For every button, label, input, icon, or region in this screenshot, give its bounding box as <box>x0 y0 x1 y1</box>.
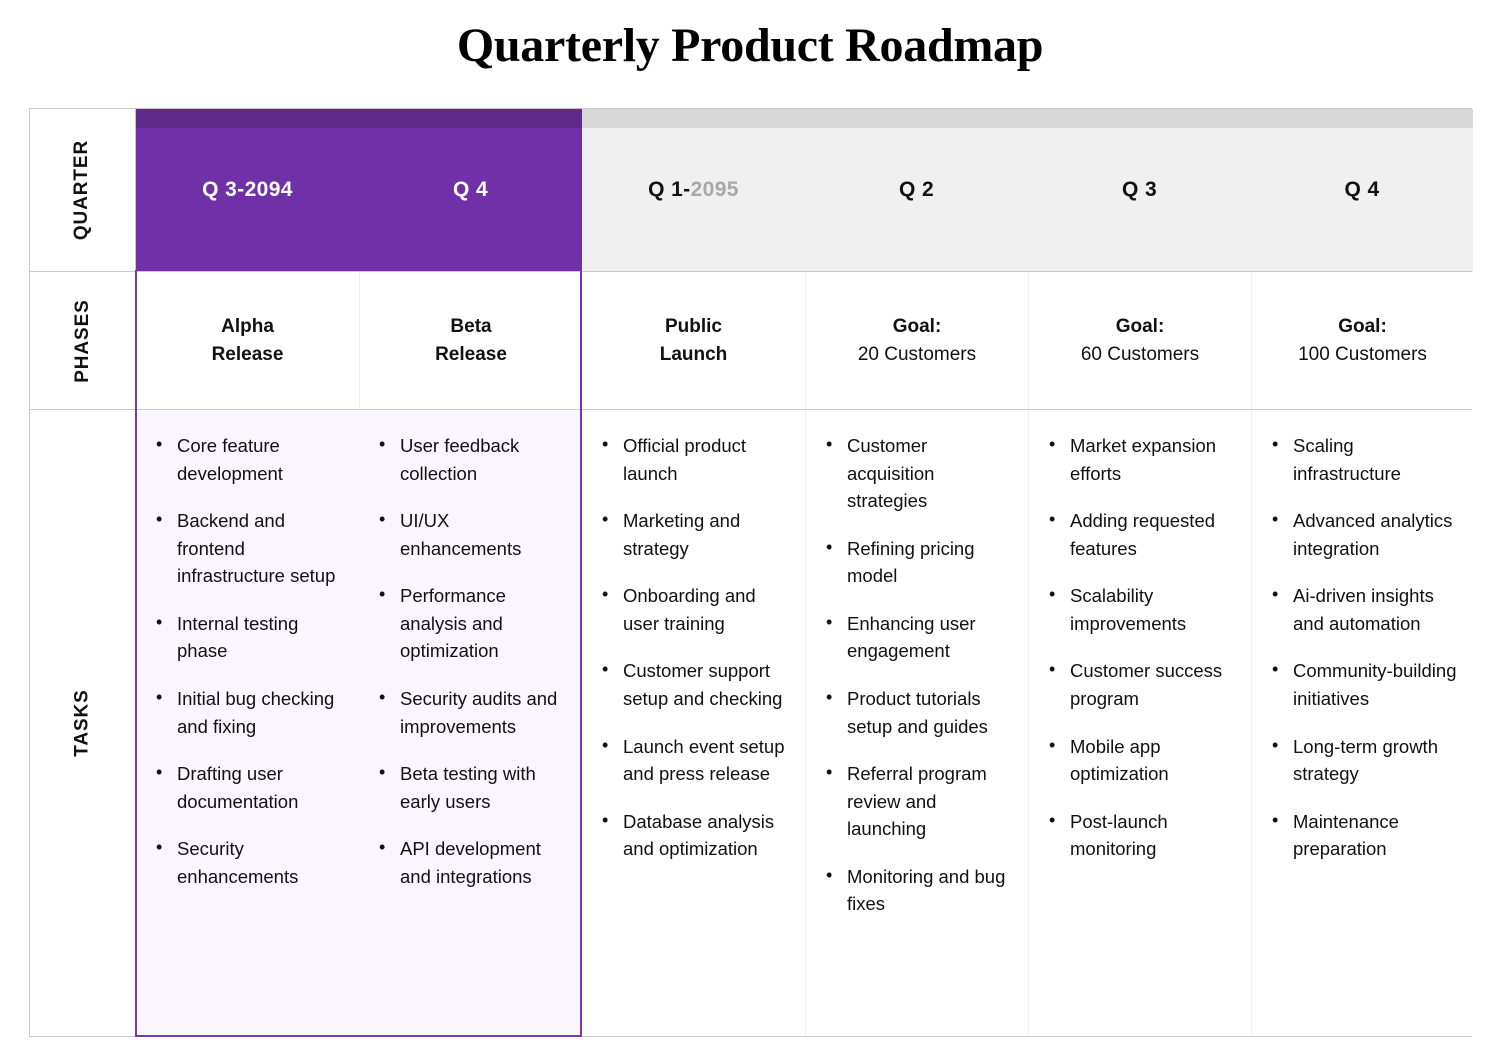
quarter-label-3: Q 1 <box>648 178 683 202</box>
tasks-row-body: Core feature development Backend and fro… <box>136 410 1473 1036</box>
phase-line1-6: Goal: <box>1338 313 1387 341</box>
row-label-phases: PHASES <box>30 272 136 409</box>
task-item[interactable]: Initial bug checking and fixing <box>154 685 343 740</box>
task-item[interactable]: Onboarding and user training <box>600 582 789 637</box>
phase-line2-2: Release <box>435 341 507 369</box>
task-item[interactable]: Adding requested features <box>1047 507 1235 562</box>
task-list-4: Customer acquisition strategies Refining… <box>824 432 1012 918</box>
phase-line1-4: Goal: <box>893 313 942 341</box>
page-title: Quarterly Product Roadmap <box>0 18 1500 73</box>
task-list-1: Core feature development Backend and fro… <box>154 432 343 890</box>
row-label-phases-text: PHASES <box>71 299 93 383</box>
quarter-sep-1: - <box>237 178 244 202</box>
task-list-3: Official product launch Marketing and st… <box>600 432 789 863</box>
task-item[interactable]: Community-building initiatives <box>1270 657 1457 712</box>
task-item[interactable]: Security audits and improvements <box>377 685 566 740</box>
task-item[interactable]: Enhancing user engagement <box>824 610 1012 665</box>
phase-line2-1: Release <box>212 341 284 369</box>
row-label-quarter-text: QUARTER <box>72 140 94 240</box>
phase-line1-3: Public <box>665 313 722 341</box>
task-list-5: Market expansion efforts Adding requeste… <box>1047 432 1235 863</box>
task-item[interactable]: Security enhancements <box>154 835 343 890</box>
task-item[interactable]: Customer success program <box>1047 657 1235 712</box>
phases-row: PHASES Alpha Release Beta Release Public… <box>30 271 1472 410</box>
task-item[interactable]: Customer support setup and checking <box>600 657 789 712</box>
quarter-label-1: Q 3 <box>202 178 237 202</box>
phase-line2-6: 100 Customers <box>1298 341 1427 369</box>
row-label-tasks: TASKS <box>30 410 136 1036</box>
task-item[interactable]: Ai-driven insights and automation <box>1270 582 1457 637</box>
phases-row-body: Alpha Release Beta Release Public Launch… <box>136 272 1473 409</box>
task-item[interactable]: Core feature development <box>154 432 343 487</box>
task-list-2: User feedback collection UI/UX enhanceme… <box>377 432 566 890</box>
quarter-cell-4[interactable]: Q 2 <box>805 109 1028 271</box>
task-item[interactable]: Referral program review and launching <box>824 760 1012 843</box>
quarter-cell-3[interactable]: Q 1 - 2095 <box>582 109 805 271</box>
quarter-year-1: 2094 <box>245 178 293 202</box>
task-item[interactable]: Refining pricing model <box>824 535 1012 590</box>
tasks-cell-3: Official product launch Marketing and st… <box>582 410 805 1036</box>
task-item[interactable]: API development and integrations <box>377 835 566 890</box>
roadmap-table: QUARTER Q 3 - 2094 Q 4 Q 1 - 2095 Q 2 <box>29 108 1472 1037</box>
task-item[interactable]: Long-term growth strategy <box>1270 733 1457 788</box>
quarter-label-4: Q 2 <box>899 178 934 202</box>
task-item[interactable]: Marketing and strategy <box>600 507 789 562</box>
phase-cell-5[interactable]: Goal: 60 Customers <box>1028 272 1251 409</box>
phase-line2-3: Launch <box>660 341 728 369</box>
task-item[interactable]: Advanced analytics integration <box>1270 507 1457 562</box>
quarter-year-3: 2095 <box>691 178 739 202</box>
task-item[interactable]: Drafting user documentation <box>154 760 343 815</box>
task-item[interactable]: Post-launch monitoring <box>1047 808 1235 863</box>
task-item[interactable]: Performance analysis and optimization <box>377 582 566 665</box>
phase-line1-5: Goal: <box>1116 313 1165 341</box>
quarter-row-body: Q 3 - 2094 Q 4 Q 1 - 2095 Q 2 Q 3 Q 4 <box>136 109 1473 271</box>
phase-line2-4: 20 Customers <box>858 341 976 369</box>
task-item[interactable]: User feedback collection <box>377 432 566 487</box>
task-item[interactable]: UI/UX enhancements <box>377 507 566 562</box>
task-item[interactable]: Scaling infrastructure <box>1270 432 1457 487</box>
quarter-cell-2[interactable]: Q 4 <box>359 109 582 271</box>
task-item[interactable]: Maintenance preparation <box>1270 808 1457 863</box>
phase-cell-2[interactable]: Beta Release <box>359 272 582 409</box>
quarter-cell-6[interactable]: Q 4 <box>1251 109 1473 271</box>
phase-cell-6[interactable]: Goal: 100 Customers <box>1251 272 1473 409</box>
phase-line1-1: Alpha <box>221 313 274 341</box>
phase-cell-4[interactable]: Goal: 20 Customers <box>805 272 1028 409</box>
task-item[interactable]: Database analysis and optimization <box>600 808 789 863</box>
tasks-cell-5: Market expansion efforts Adding requeste… <box>1028 410 1251 1036</box>
task-item[interactable]: Scalability improvements <box>1047 582 1235 637</box>
task-item[interactable]: Customer acquisition strategies <box>824 432 1012 515</box>
quarter-row: QUARTER Q 3 - 2094 Q 4 Q 1 - 2095 Q 2 <box>30 109 1472 271</box>
row-label-tasks-text: TASKS <box>71 689 93 756</box>
quarter-label-6: Q 4 <box>1344 178 1379 202</box>
quarter-label-5: Q 3 <box>1122 178 1157 202</box>
tasks-cell-4: Customer acquisition strategies Refining… <box>805 410 1028 1036</box>
row-label-quarter: QUARTER <box>30 109 136 271</box>
task-item[interactable]: Internal testing phase <box>154 610 343 665</box>
task-item[interactable]: Product tutorials setup and guides <box>824 685 1012 740</box>
tasks-cell-2: User feedback collection UI/UX enhanceme… <box>359 410 582 1036</box>
phase-line1-2: Beta <box>450 313 491 341</box>
task-item[interactable]: Backend and frontend infrastructure setu… <box>154 507 343 590</box>
task-list-6: Scaling infrastructure Advanced analytic… <box>1270 432 1457 863</box>
phase-line2-5: 60 Customers <box>1081 341 1199 369</box>
tasks-cell-1: Core feature development Backend and fro… <box>136 410 359 1036</box>
tasks-cell-6: Scaling infrastructure Advanced analytic… <box>1251 410 1473 1036</box>
quarter-cell-1[interactable]: Q 3 - 2094 <box>136 109 359 271</box>
roadmap-page: Quarterly Product Roadmap QUARTER Q 3 - … <box>0 0 1500 1061</box>
quarter-cell-5[interactable]: Q 3 <box>1028 109 1251 271</box>
task-item[interactable]: Launch event setup and press release <box>600 733 789 788</box>
task-item[interactable]: Mobile app optimization <box>1047 733 1235 788</box>
quarter-sep-3: - <box>683 178 690 202</box>
phase-cell-1[interactable]: Alpha Release <box>136 272 359 409</box>
phase-cell-3[interactable]: Public Launch <box>582 272 805 409</box>
task-item[interactable]: Monitoring and bug fixes <box>824 863 1012 918</box>
task-item[interactable]: Beta testing with early users <box>377 760 566 815</box>
tasks-row: TASKS Core feature development Backend a… <box>30 410 1472 1036</box>
task-item[interactable]: Market expansion efforts <box>1047 432 1235 487</box>
task-item[interactable]: Official product launch <box>600 432 789 487</box>
quarter-label-2: Q 4 <box>453 178 488 202</box>
